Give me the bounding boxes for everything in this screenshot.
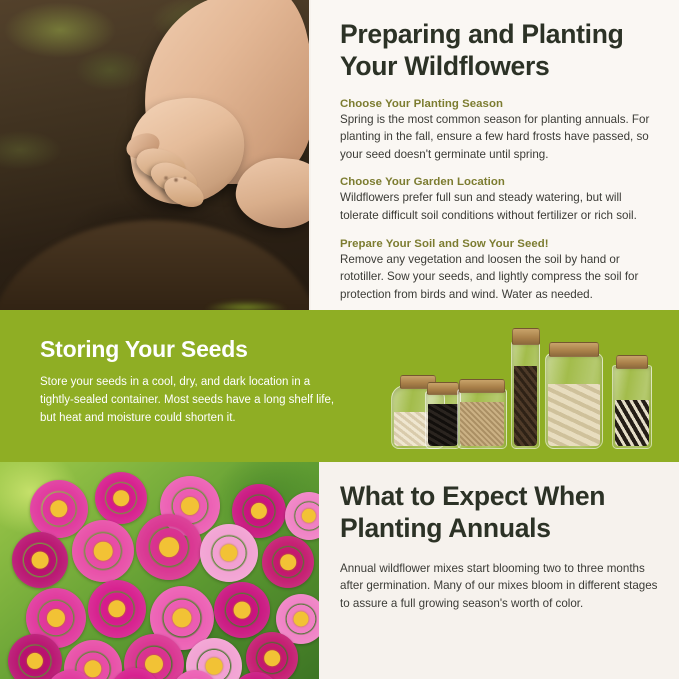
section2-body: Store your seeds in a cool, dry, and dar…	[40, 374, 340, 427]
zinnia-bloom	[136, 514, 202, 580]
seed-jar	[545, 353, 603, 449]
zinnia-bloom	[262, 536, 314, 588]
cork-lid	[459, 379, 505, 393]
subheading-planting-season: Choose Your Planting Season	[340, 98, 658, 110]
image-glass-jars-of-seeds	[385, 318, 670, 453]
seed-jar	[612, 365, 652, 449]
seed-fill	[514, 366, 537, 446]
section1-heading: Preparing and Planting Your Wildflowers	[340, 18, 658, 83]
column-divider	[309, 0, 311, 310]
cork-lid	[427, 382, 459, 395]
seed-jar	[457, 389, 507, 449]
zinnia-bloom	[214, 582, 270, 638]
zinnia-bloom	[8, 634, 62, 679]
body-prepare-soil: Remove any vegetation and loosen the soi…	[340, 251, 658, 304]
seed-fill	[460, 402, 504, 446]
section-what-to-expect: What to Expect When Planting Annuals Ann…	[0, 462, 679, 679]
subheading-garden-location: Choose Your Garden Location	[340, 176, 658, 188]
seed-fill	[615, 400, 649, 446]
seed-fill	[548, 384, 600, 446]
seed-jar	[511, 341, 540, 449]
cork-lid	[512, 328, 540, 345]
subheading-prepare-soil: Prepare Your Soil and Sow Your Seed!	[340, 238, 658, 250]
seed-jar	[425, 391, 461, 449]
section-storing-your-seeds: Storing Your Seeds Store your seeds in a…	[0, 310, 679, 462]
body-planting-season: Spring is the most common season for pla…	[340, 111, 658, 164]
zinnia-bloom	[88, 580, 146, 638]
section3-heading: What to Expect When Planting Annuals	[340, 480, 658, 545]
section3-text-column: What to Expect When Planting Annuals Ann…	[340, 480, 658, 612]
cork-lid	[616, 355, 648, 369]
section3-body: Annual wildflower mixes start blooming t…	[340, 560, 658, 613]
section-preparing-and-planting: Preparing and Planting Your Wildflowers …	[0, 0, 679, 310]
body-garden-location: Wildflowers prefer full sun and steady w…	[340, 189, 658, 224]
cork-lid	[549, 342, 599, 357]
seed-fill	[428, 404, 458, 446]
section1-text-column: Preparing and Planting Your Wildflowers …	[340, 18, 658, 304]
image-hand-sowing-seeds-in-soil	[0, 0, 309, 310]
section2-heading: Storing Your Seeds	[40, 336, 340, 363]
zinnia-bloom	[95, 472, 147, 524]
zinnia-bloom	[12, 532, 68, 588]
seeds-in-hand	[160, 172, 192, 188]
image-pink-zinnia-flowers	[0, 462, 319, 679]
zinnia-bloom	[200, 524, 258, 582]
zinnia-bloom	[72, 520, 134, 582]
grass-blur	[186, 284, 306, 310]
section2-text-column: Storing Your Seeds Store your seeds in a…	[40, 336, 340, 427]
infographic-page: Preparing and Planting Your Wildflowers …	[0, 0, 679, 679]
